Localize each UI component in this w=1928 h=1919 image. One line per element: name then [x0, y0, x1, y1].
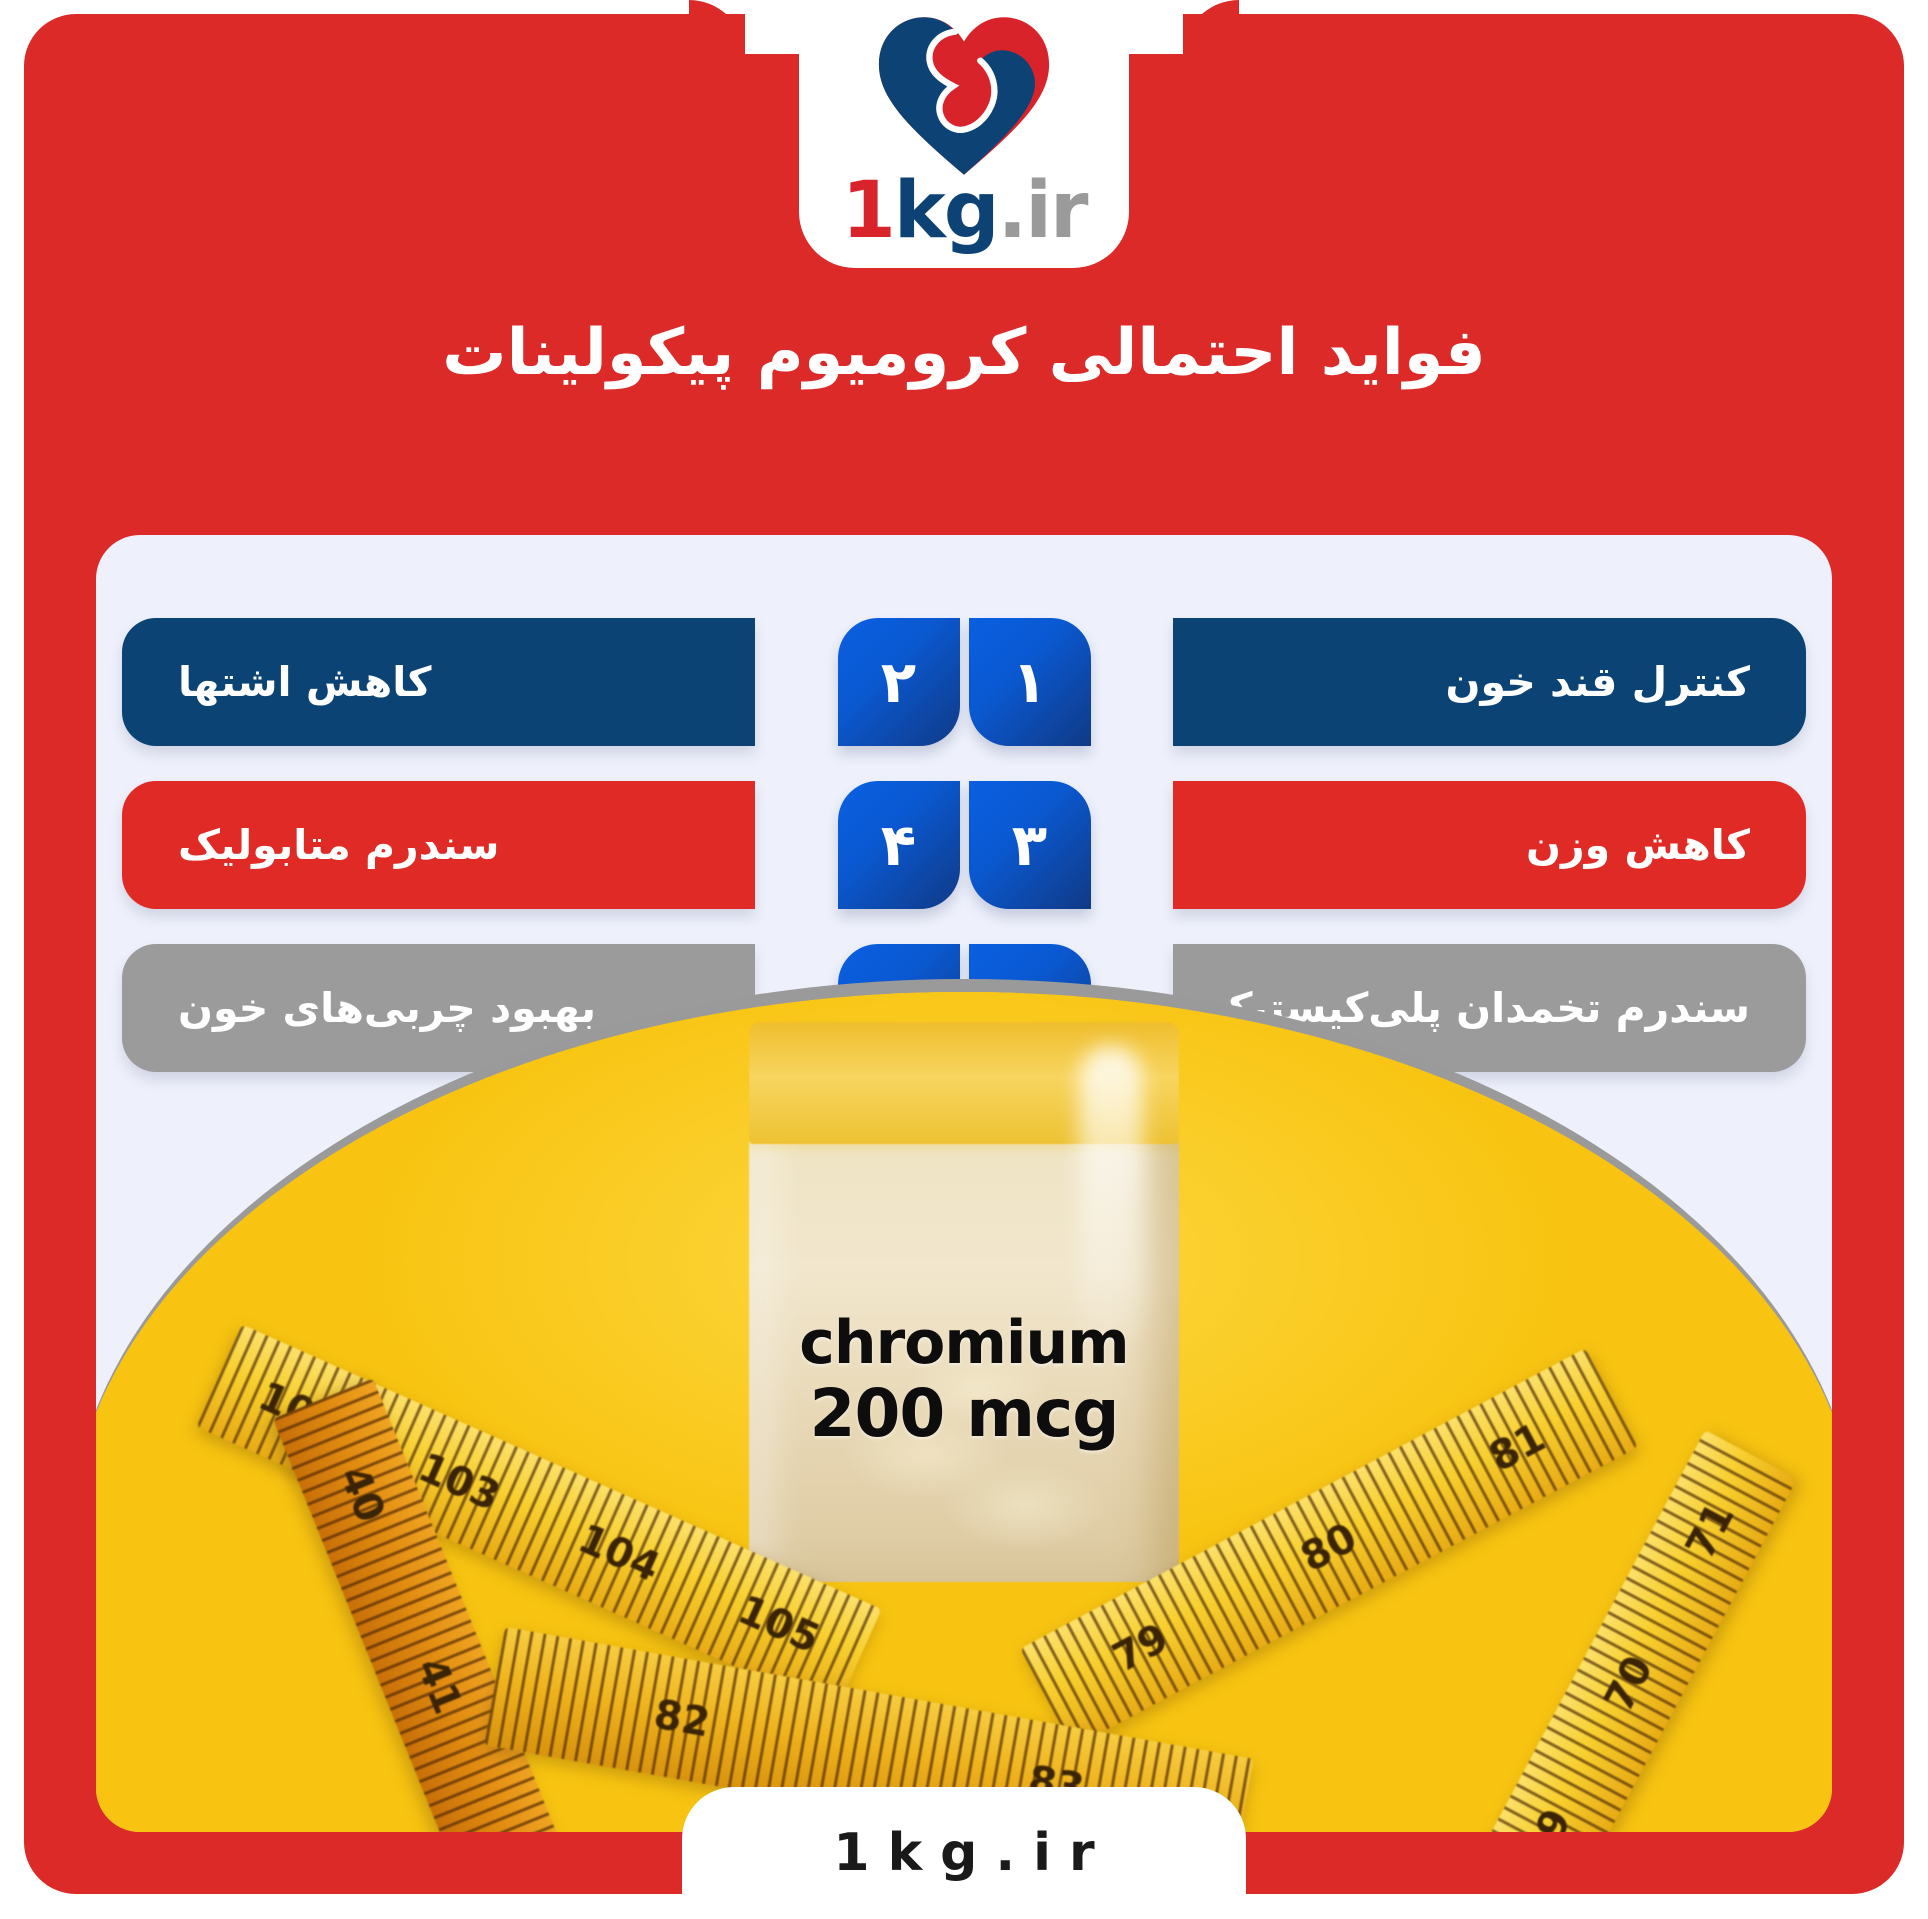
benefit-number-pair: ۳ ۴ — [838, 781, 1091, 909]
bottle-highlight — [1079, 1046, 1143, 1346]
benefit-number-1: ۱ — [969, 618, 1091, 746]
benefit-number-2: ۲ — [838, 618, 960, 746]
tape-number: 104 — [571, 1516, 666, 1592]
benefit-number-4: ۴ — [838, 781, 960, 909]
benefit-label: کنترل قند خون — [1446, 658, 1750, 706]
content-card: کنترل قند خون ۱ ۲ کاهش اشتها کاهش وزن ۳ … — [96, 535, 1832, 1832]
product-label-line1: chromium — [96, 1310, 1832, 1377]
benefit-row: کاهش وزن ۳ ۴ سندرم متابولیک — [122, 781, 1806, 909]
brand-logo-badge: 1kg.ir — [799, 0, 1129, 268]
chromium-bottle — [749, 1022, 1179, 1582]
brand-wordmark: 1kg.ir — [842, 176, 1087, 246]
tape-number: 70 — [1596, 1649, 1663, 1720]
footer-site-badge: 1kg.ir — [682, 1787, 1246, 1919]
benefit-label: کاهش اشتها — [178, 658, 431, 706]
tape-number: 80 — [1294, 1515, 1365, 1582]
benefit-item-3[interactable]: کاهش وزن — [1173, 781, 1806, 909]
badge-fillet-left — [689, 0, 745, 58]
benefit-row: کنترل قند خون ۱ ۲ کاهش اشتها — [122, 618, 1806, 746]
tape-number: 41 — [407, 1652, 471, 1721]
benefit-item-2[interactable]: کاهش اشتها — [122, 618, 755, 746]
product-photo: chromium 200 mcg 102 103 104 105 — [96, 979, 1832, 1832]
benefit-number-pair: ۱ ۲ — [838, 618, 1091, 746]
infographic-poster: 1kg.ir فواید احتمالی کرومیوم پیکولینات ک… — [0, 0, 1928, 1919]
page-title: فواید احتمالی کرومیوم پیکولینات — [0, 316, 1928, 390]
tape-number: 82 — [650, 1692, 713, 1747]
product-photo-frame: chromium 200 mcg 102 103 104 105 — [96, 979, 1832, 1832]
footer-site-url: 1kg.ir — [815, 1823, 1112, 1883]
product-label-line2: 200 mcg — [96, 1377, 1832, 1451]
tape-number: 79 — [1105, 1615, 1176, 1682]
product-photo-background: chromium 200 mcg 102 103 104 105 — [96, 992, 1832, 1832]
benefit-item-4[interactable]: سندرم متابولیک — [122, 781, 755, 909]
benefit-label: کاهش وزن — [1526, 821, 1750, 869]
tape-number: 105 — [731, 1587, 826, 1663]
benefit-item-1[interactable]: کنترل قند خون — [1173, 618, 1806, 746]
benefit-number-3: ۳ — [969, 781, 1091, 909]
tape-number: 71 — [1677, 1496, 1744, 1567]
badge-fillet-right — [1183, 0, 1239, 58]
tape-number: 69 — [1514, 1802, 1581, 1832]
benefit-label: سندرم متابولیک — [178, 821, 499, 869]
tape-number: 40 — [330, 1460, 394, 1529]
heart-with-flexing-arm-icon — [873, 10, 1055, 182]
product-label: chromium 200 mcg — [96, 1310, 1832, 1451]
